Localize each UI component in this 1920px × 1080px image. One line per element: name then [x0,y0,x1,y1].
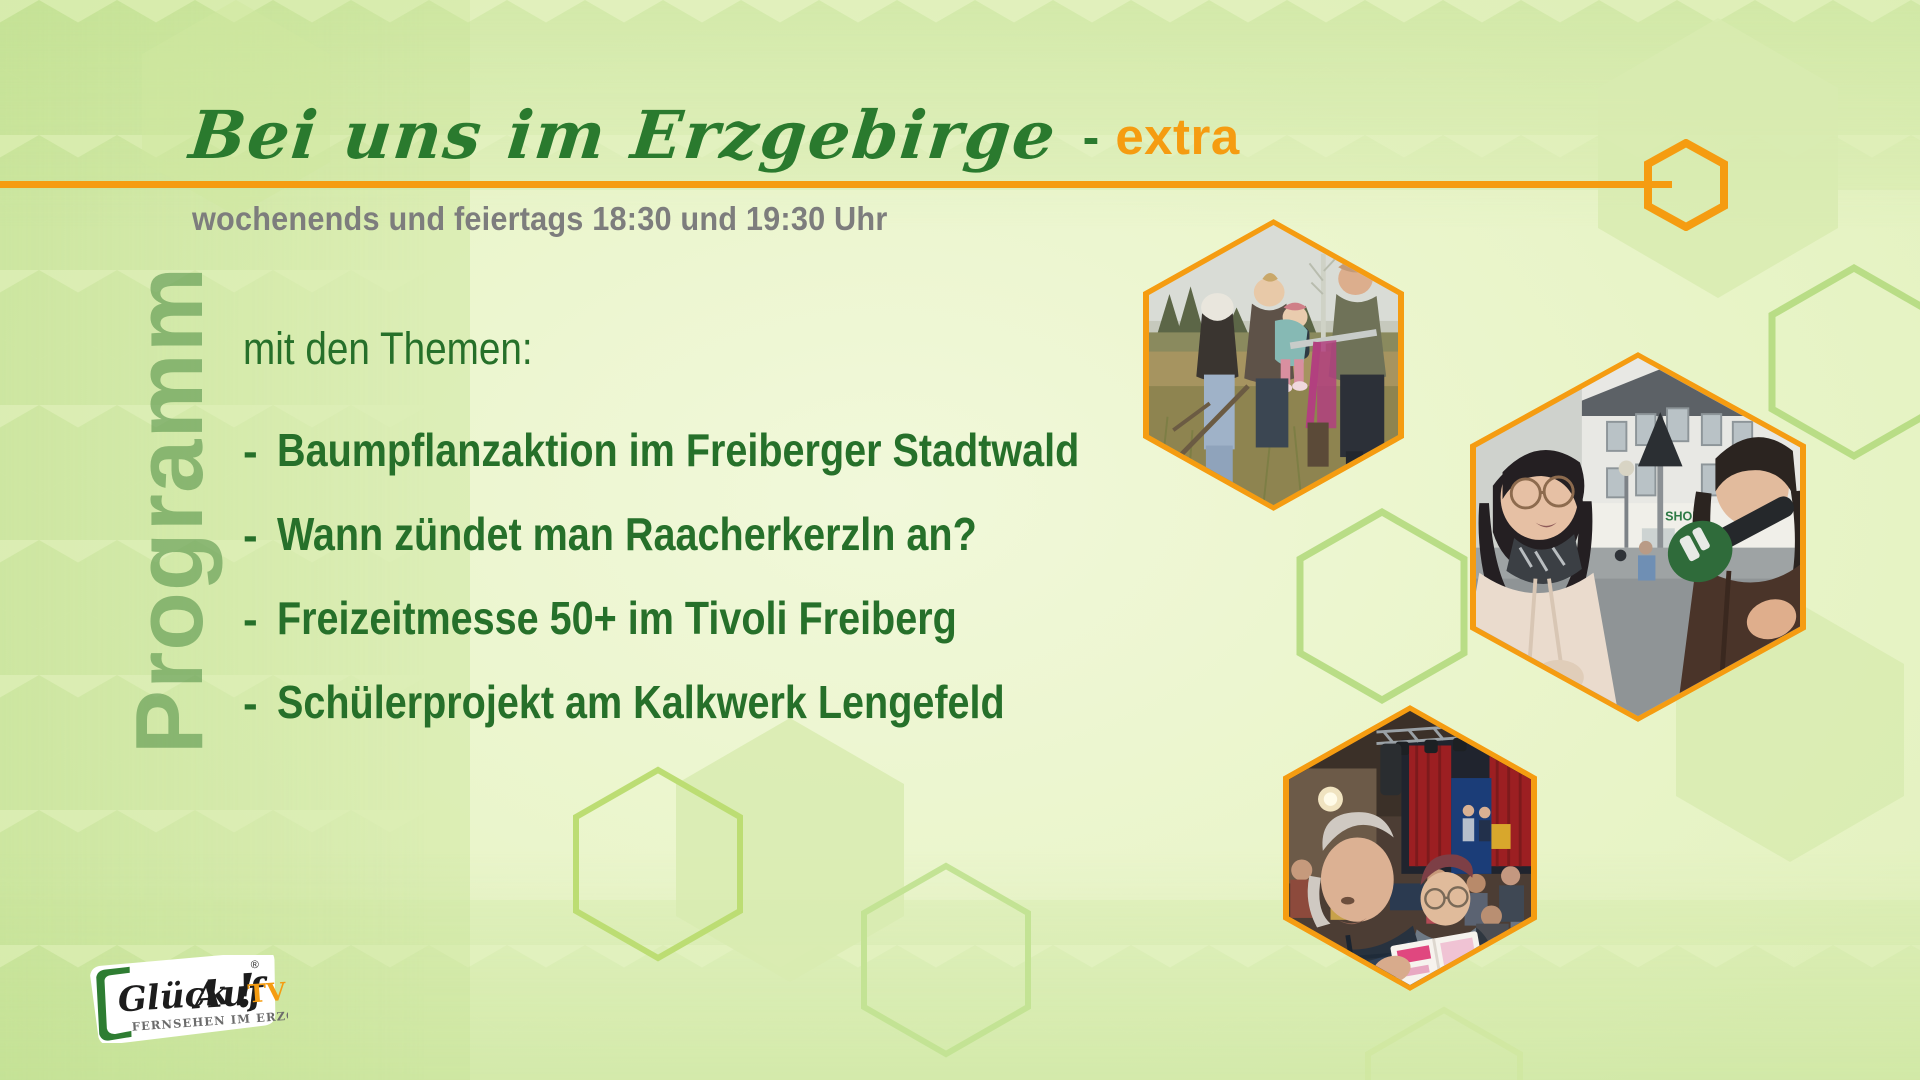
list-item: - Freizeitmesse 50+ im Tivoli Freiberg [243,591,1243,675]
programm-vertical-label: Programm [115,180,225,840]
header-rule [0,181,1672,188]
page-title: Bei uns im Erzgebirge - extra [190,96,1240,174]
list-item: - Baumpflanzaktion im Freiberger Stadtwa… [243,423,1243,507]
bullet-dash: - [243,595,277,645]
title-script-text: Bei uns im Erzgebirge [186,96,1061,174]
glueckauf-tv-logo[interactable]: Glück Auf ! ® TV FERNSEHEN IM ERZGEBIRGE [82,955,288,1043]
bullet-dash: - [243,679,277,729]
topic-label: Baumpflanzaktion im Freiberger Stadtwald [277,423,1079,477]
topic-label: Freizeitmesse 50+ im Tivoli Freiberg [277,591,957,645]
bullet-dash: - [243,511,277,561]
list-item: - Wann zündet man Raacherkerzln an? [243,507,1243,591]
svg-text:®: ® [250,959,259,972]
broadcast-slide: Bei uns im Erzgebirge - extra wochenends… [0,0,1920,1080]
topics-list: - Baumpflanzaktion im Freiberger Stadtwa… [243,423,1243,759]
topic-label: Wann zündet man Raacherkerzln an? [277,507,977,561]
list-item: - Schülerprojekt am Kalkwerk Lengefeld [243,675,1243,759]
title-dash: - [1057,108,1116,166]
bullet-dash: - [243,427,277,477]
topic-label: Schülerprojekt am Kalkwerk Lengefeld [277,675,1005,729]
hexagon-outline-icon [1640,139,1732,231]
broadcast-times-subtitle: wochenends und feiertags 18:30 und 19:30… [192,200,887,238]
title-extra-badge: extra [1115,107,1239,166]
themes-label: mit den Themen: [243,323,533,375]
svg-text:TV: TV [247,977,288,1009]
